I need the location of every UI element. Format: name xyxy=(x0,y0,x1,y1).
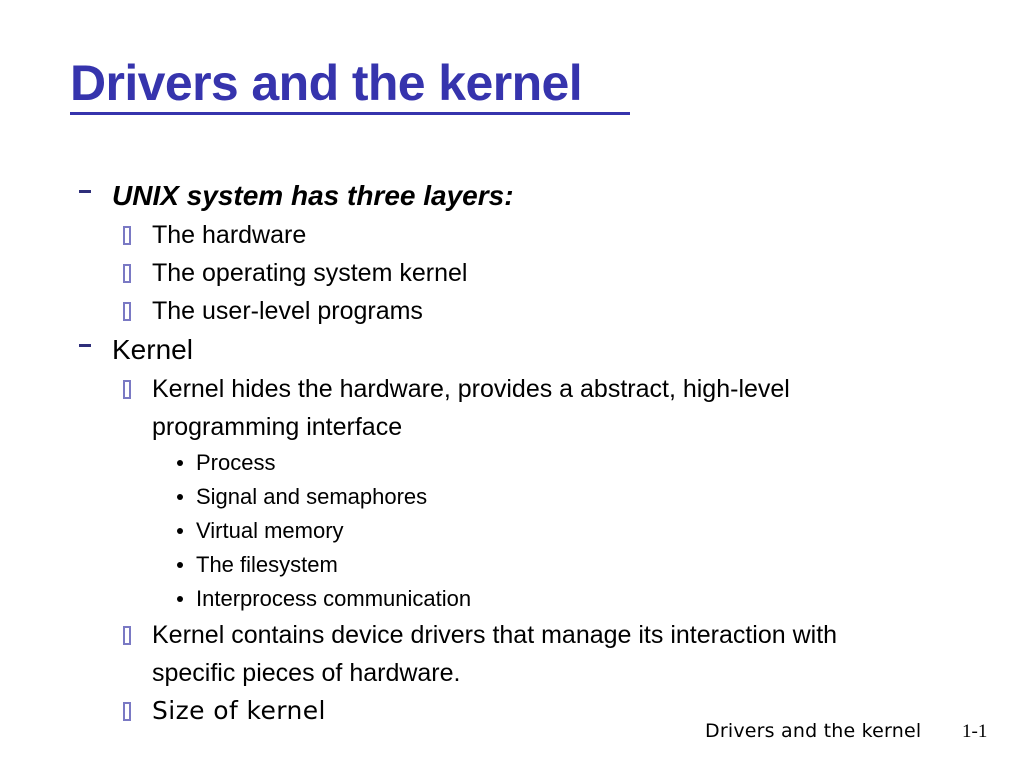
list-item-label: Kernel hides the hardware, provides a ab… xyxy=(152,370,882,446)
footer-page-number: 1-1 xyxy=(962,721,987,743)
dot-bullet-icon xyxy=(177,596,183,602)
list-item-label: Virtual memory xyxy=(196,514,1024,548)
list-item-kernel: Kernel xyxy=(0,330,1024,370)
list-item-unix-layers: UNIX system has three layers: xyxy=(0,176,1024,216)
box-bullet-icon xyxy=(123,380,131,399)
list-item-label: Kernel xyxy=(112,330,1024,370)
dot-bullet-icon xyxy=(177,494,183,500)
list-item-label: Interprocess communication xyxy=(196,582,1024,616)
list-item-os-kernel: The operating system kernel xyxy=(0,254,1024,292)
list-item-hardware: The hardware xyxy=(0,216,1024,254)
list-item-label: Signal and semaphores xyxy=(196,480,1024,514)
list-item-label: UNIX system has three layers: xyxy=(112,176,1024,216)
slide-canvas: Drivers and the kernel UNIX system has t… xyxy=(0,0,1024,768)
list-item-filesystem: The filesystem xyxy=(0,548,1024,582)
list-item-user-programs: The user-level programs xyxy=(0,292,1024,330)
box-bullet-icon xyxy=(123,702,131,721)
box-bullet-icon xyxy=(123,626,131,645)
dot-bullet-icon xyxy=(177,528,183,534)
title-underline xyxy=(70,112,630,115)
list-item-label: The hardware xyxy=(152,216,882,254)
list-item-label: Kernel contains device drivers that mana… xyxy=(152,616,882,692)
dot-bullet-icon xyxy=(177,460,183,466)
page-title: Drivers and the kernel xyxy=(70,57,582,110)
box-bullet-icon xyxy=(123,226,131,245)
list-item-signal-semaphores: Signal and semaphores xyxy=(0,480,1024,514)
list-item-virtual-memory: Virtual memory xyxy=(0,514,1024,548)
dash-bullet-icon xyxy=(79,190,91,193)
list-item-ipc: Interprocess communication xyxy=(0,582,1024,616)
slide-footer: Drivers and the kernel 1-1 xyxy=(0,720,1024,754)
dash-bullet-icon xyxy=(79,344,91,347)
list-item-label: The filesystem xyxy=(196,548,1024,582)
footer-title: Drivers and the kernel xyxy=(705,720,921,742)
list-item-label: The operating system kernel xyxy=(152,254,882,292)
list-item-kernel-hides: Kernel hides the hardware, provides a ab… xyxy=(0,370,1024,446)
list-item-label: Process xyxy=(196,446,1024,480)
dot-bullet-icon xyxy=(177,562,183,568)
list-item-label: The user-level programs xyxy=(152,292,882,330)
slide-body: UNIX system has three layers: The hardwa… xyxy=(0,176,1024,730)
box-bullet-icon xyxy=(123,264,131,283)
list-item-device-drivers: Kernel contains device drivers that mana… xyxy=(0,616,1024,692)
box-bullet-icon xyxy=(123,302,131,321)
list-item-process: Process xyxy=(0,446,1024,480)
